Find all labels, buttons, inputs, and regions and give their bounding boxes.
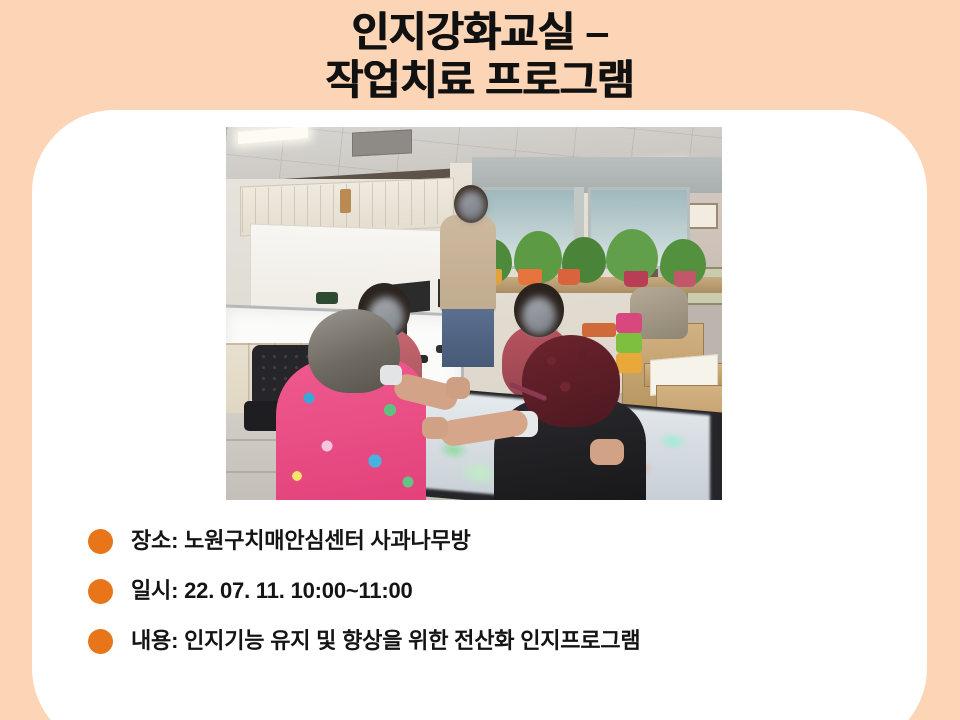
photo-person-standing-jeans	[442, 309, 494, 367]
detail-content-text: 내용: 인지기능 유지 및 향상을 위한 전산화 인지프로그램	[131, 628, 640, 654]
photo-person-foreground-left-mask	[380, 365, 402, 385]
filled-circle-bullet-icon	[88, 529, 113, 554]
photo-colored-box-yellow	[616, 353, 642, 373]
photo-person-foreground-right-hair	[522, 335, 620, 427]
photo-colored-box-pink	[616, 313, 642, 333]
page-title: 인지강화교실 – 작업치료 프로그램	[0, 8, 960, 104]
photo-person-foreground-left-hand	[446, 377, 470, 399]
list-item: 일시: 22. 07. 11. 10:00~11:00	[88, 566, 640, 616]
detail-list: 장소: 노원구치매안심센터 사과나무방 일시: 22. 07. 11. 10:0…	[88, 516, 640, 666]
poster-slide: 인지강화교실 – 작업치료 프로그램	[0, 0, 960, 720]
filled-circle-bullet-icon	[88, 579, 113, 604]
list-item: 장소: 노원구치매안심센터 사과나무방	[88, 516, 640, 566]
title-line-2: 작업치료 프로그램	[0, 56, 960, 104]
list-item: 내용: 인지기능 유지 및 향상을 위한 전산화 인지프로그램	[88, 616, 640, 666]
photo-person-standing-face-blurred	[458, 191, 485, 221]
photo-person-standing-body	[440, 215, 496, 313]
photo-cabinet-handle	[340, 189, 351, 213]
photo-plant-pot-3	[558, 269, 580, 285]
photo-plant-pot-4	[624, 271, 648, 287]
title-line-1: 인지강화교실 –	[0, 8, 960, 56]
photo-ceiling-vent	[352, 129, 412, 156]
photo-person-foreground-right-hand	[422, 417, 448, 439]
filled-circle-bullet-icon	[88, 629, 113, 654]
program-photo	[226, 127, 722, 500]
detail-datetime-text: 일시: 22. 07. 11. 10:00~11:00	[131, 578, 413, 604]
photo-colored-box-green	[616, 333, 642, 353]
photo-plant-pot-5	[674, 271, 696, 287]
detail-location-text: 장소: 노원구치매안심센터 사과나무방	[131, 528, 471, 554]
photo-person-right-back-face-blurred	[522, 297, 556, 335]
photo-colored-box-orange	[582, 323, 616, 337]
photo-person-foreground-right-hand-2	[590, 439, 624, 465]
photo-sheet-clip	[316, 292, 338, 304]
